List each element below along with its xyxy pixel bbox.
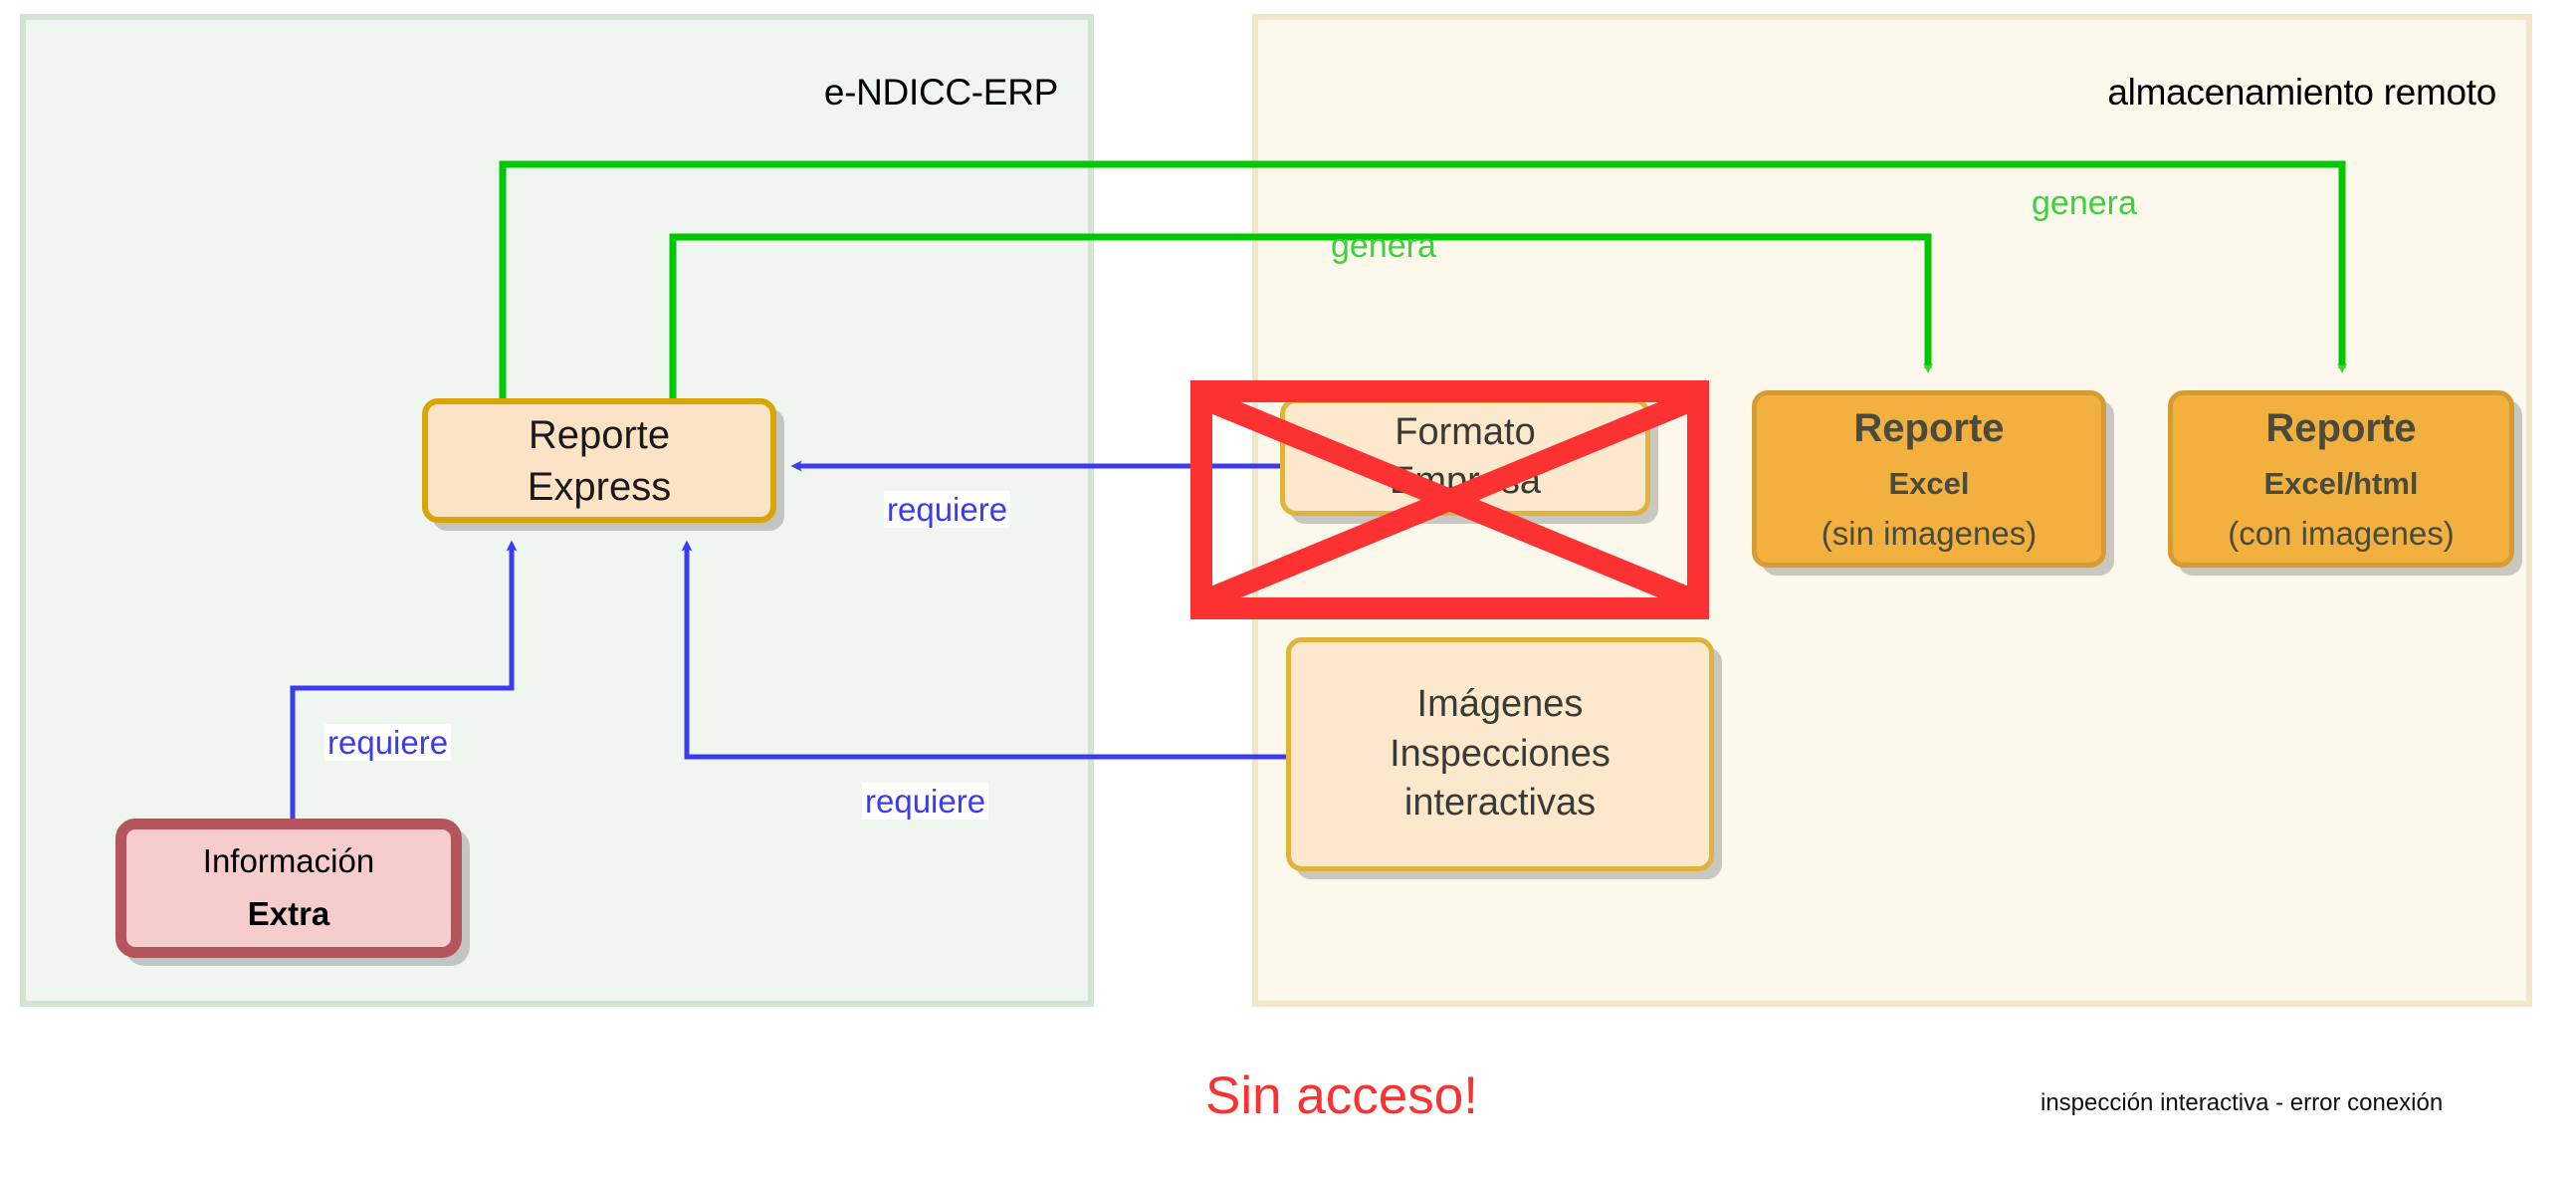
node-reporte-excel-html[interactable]: Reporte Excel/html (con imagenes) [2168,390,2514,568]
node-reporte-excel-line-1: Reporte [1853,402,2004,454]
node-reporte-excel-line-2: Excel [1888,464,1969,504]
node-reporte-excel-html-line-3: (con imagenes) [2228,513,2454,556]
node-informacion-extra-line-1: Información [203,840,374,883]
edge-label-requiere-informacion-extra: requiere [324,724,451,761]
node-reporte-excel-html-line-2: Excel/html [2263,464,2418,504]
diagram-canvas: e-NDICC-ERP almacenamiento remoto [0,0,2576,1179]
node-reporte-excel-line-3: (sin imagenes) [1822,513,2037,556]
cluster-remote-storage-title: almacenamiento remoto [2107,72,2496,114]
red-cross-out-overlay [1190,380,1709,619]
edge-label-genera-excel-html: genera [2029,184,2140,222]
node-reporte-express[interactable]: Reporte Express [422,398,776,523]
node-reporte-express-line-2: Express [528,461,672,513]
edge-label-requiere-formato-empresa: requiere [884,491,1010,528]
node-imagenes-inspecciones-line-1: Imágenes [1417,680,1584,729]
node-imagenes-inspecciones-line-2: Inspecciones [1390,730,1610,779]
edge-label-genera-excel: genera [1328,227,1439,265]
node-informacion-extra-line-2: Extra [248,893,330,936]
footer-warning-text: Sin acceso! [1205,1065,1478,1126]
node-imagenes-inspecciones-line-3: interactivas [1404,779,1596,827]
node-reporte-excel-html-line-1: Reporte [2265,402,2416,454]
footer-note-text: inspección interactiva - error conexión [2040,1089,2443,1117]
edge-label-requiere-imagenes-inspecciones: requiere [862,783,988,820]
cluster-erp-title: e-NDICC-ERP [824,72,1058,114]
node-imagenes-inspecciones[interactable]: Imágenes Inspecciones interactivas [1286,637,1714,871]
node-reporte-excel[interactable]: Reporte Excel (sin imagenes) [1752,390,2106,568]
node-reporte-express-line-1: Reporte [529,409,670,461]
node-informacion-extra[interactable]: Información Extra [115,819,462,958]
